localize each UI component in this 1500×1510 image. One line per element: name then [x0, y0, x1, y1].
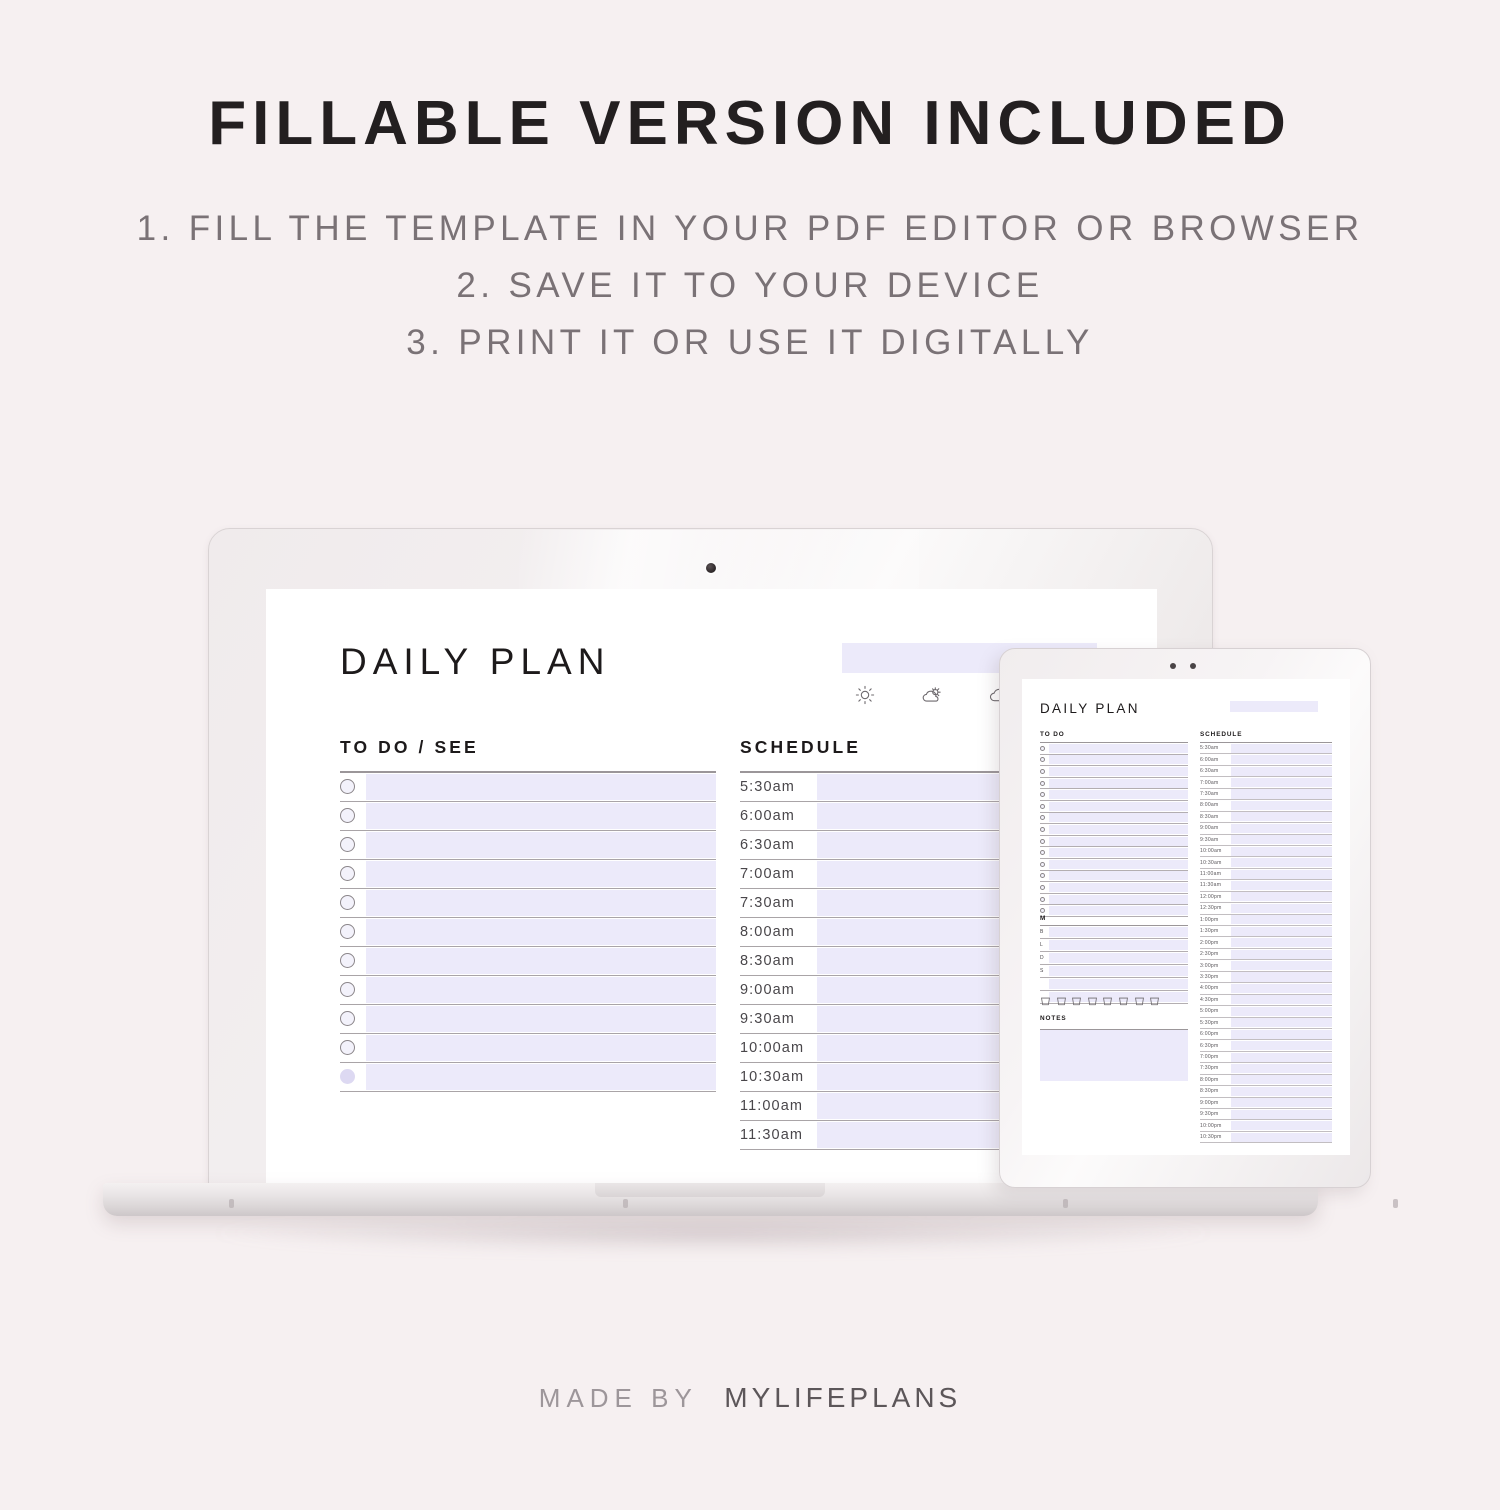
- laptop-camera-icon: [706, 563, 716, 573]
- tablet-schedule-input[interactable]: [1231, 824, 1332, 833]
- schedule-time-label: 7:30am: [740, 895, 817, 911]
- tablet-schedule-time-label: 6:30am: [1200, 768, 1231, 774]
- tablet-schedule-input[interactable]: [1231, 892, 1332, 901]
- todo-checkbox-circle-icon[interactable]: [340, 1011, 355, 1026]
- tablet-schedule-time-label: 6:00am: [1200, 757, 1231, 763]
- tablet-schedule-row: 7:00am: [1200, 777, 1332, 788]
- tablet-schedule-time-label: 4:00pm: [1200, 985, 1231, 991]
- water-glass-icon[interactable]: [1056, 997, 1067, 1006]
- tablet-schedule-row: 9:30am: [1200, 835, 1332, 846]
- tablet-meal-row: B: [1040, 926, 1188, 939]
- tablet-schedule-input[interactable]: [1231, 778, 1332, 787]
- todo-row: [340, 889, 716, 918]
- water-glass-icon[interactable]: [1087, 997, 1098, 1006]
- laptop-foot: [1393, 1199, 1398, 1208]
- laptop-foot: [623, 1199, 628, 1208]
- tablet-schedule-time-label: 9:30pm: [1200, 1111, 1231, 1117]
- tablet-schedule-input[interactable]: [1231, 1110, 1332, 1119]
- tablet-schedule-row: 1:00pm: [1200, 915, 1332, 926]
- tablet-todo-checkbox-circle-icon[interactable]: [1040, 769, 1045, 774]
- instruction-step-3: 3. PRINT IT OR USE IT DIGITALLY: [0, 314, 1500, 371]
- tablet-todo-row: [1040, 801, 1188, 813]
- tablet-schedule-time-label: 7:00pm: [1200, 1054, 1231, 1060]
- tablet-screen: DAILY PLAN TO DO SCHEDULE 5:30am6:00am6:…: [1022, 679, 1350, 1155]
- tablet-meal-label: B: [1040, 929, 1048, 935]
- tablet-notes-heading: NOTES: [1040, 1015, 1188, 1025]
- schedule-time-label: 7:00am: [740, 866, 817, 882]
- todo-row: [340, 860, 716, 889]
- todo-input[interactable]: [366, 861, 716, 887]
- tablet-todo-input[interactable]: [1049, 755, 1188, 764]
- todo-checkbox-circle-icon[interactable]: [340, 866, 355, 881]
- tablet-schedule-row: 5:30pm: [1200, 1018, 1332, 1029]
- tablet-meal-label: S: [1040, 968, 1048, 974]
- tablet-schedule-row: 6:30am: [1200, 766, 1332, 777]
- footer-made-by: MADE BY: [539, 1383, 698, 1413]
- todo-checkbox-circle-icon[interactable]: [340, 982, 355, 997]
- tablet-todo-checkbox-circle-icon[interactable]: [1040, 873, 1045, 878]
- tablet-schedule-input[interactable]: [1231, 744, 1332, 753]
- tablet-schedule-input[interactable]: [1231, 789, 1332, 798]
- tablet-schedule-row: 5:30am: [1200, 743, 1332, 754]
- tablet-schedule-input[interactable]: [1231, 1053, 1332, 1062]
- tablet-schedule-time-label: 11:00am: [1200, 871, 1231, 877]
- tablet-schedule-time-label: 8:00am: [1200, 802, 1231, 808]
- tablet-todo-input[interactable]: [1049, 871, 1188, 880]
- todo-row: [340, 1063, 716, 1092]
- tablet-schedule-input[interactable]: [1231, 1121, 1332, 1130]
- tablet-schedule-input[interactable]: [1231, 858, 1332, 867]
- tablet-schedule-input[interactable]: [1231, 1133, 1332, 1142]
- tablet-meals-section: M BLDS: [1040, 915, 1188, 1004]
- tablet-schedule-input[interactable]: [1231, 1007, 1332, 1016]
- tablet-schedule-row: 8:30pm: [1200, 1086, 1332, 1097]
- tablet-todo-row-list: [1040, 743, 1188, 917]
- tablet-schedule-heading: SCHEDULE: [1200, 731, 1332, 742]
- water-glass-icon[interactable]: [1040, 997, 1051, 1006]
- tablet-schedule-input[interactable]: [1231, 835, 1332, 844]
- tablet-schedule-row: 2:30pm: [1200, 949, 1332, 960]
- tablet-water-tracker: [1040, 997, 1188, 1006]
- tablet-schedule-time-label: 9:00am: [1200, 825, 1231, 831]
- todo-row: [340, 802, 716, 831]
- tablet-schedule-input[interactable]: [1231, 961, 1332, 970]
- tablet-schedule-row: 9:00pm: [1200, 1098, 1332, 1109]
- tablet-schedule-time-label: 10:00am: [1200, 848, 1231, 854]
- tablet-schedule-row: 10:00pm: [1200, 1120, 1332, 1131]
- tablet-schedule-row: 11:30am: [1200, 880, 1332, 891]
- tablet-todo-row: [1040, 894, 1188, 906]
- tablet-schedule-input[interactable]: [1231, 995, 1332, 1004]
- tablet-schedule-input[interactable]: [1231, 801, 1332, 810]
- tablet-meal-row: [1040, 978, 1188, 991]
- tablet-todo-row: [1040, 789, 1188, 801]
- tablet-schedule-row: 4:00pm: [1200, 983, 1332, 994]
- tablet-todo-checkbox-circle-icon[interactable]: [1040, 827, 1045, 832]
- tablet-meal-row: D: [1040, 952, 1188, 965]
- tablet-todo-input[interactable]: [1049, 813, 1188, 822]
- tablet-schedule-input[interactable]: [1231, 812, 1332, 821]
- tablet-todo-row: [1040, 778, 1188, 790]
- footer: MADE BY MYLIFEPLANS: [0, 1382, 1500, 1414]
- tablet-todo-checkbox-circle-icon[interactable]: [1040, 839, 1045, 844]
- schedule-time-label: 10:00am: [740, 1040, 817, 1056]
- laptop-hinge: [595, 1183, 825, 1197]
- tablet-schedule-time-label: 9:30am: [1200, 837, 1231, 843]
- tablet-schedule-row: 6:30pm: [1200, 1040, 1332, 1051]
- tablet-todo-row: [1040, 743, 1188, 755]
- tablet-schedule-time-label: 8:00pm: [1200, 1077, 1231, 1083]
- tablet-schedule-input[interactable]: [1231, 1087, 1332, 1096]
- footer-brand: MYLIFEPLANS: [724, 1382, 961, 1413]
- tablet-schedule-input[interactable]: [1231, 1098, 1332, 1107]
- tablet-meal-row: L: [1040, 939, 1188, 952]
- todo-checkbox-circle-icon[interactable]: [340, 953, 355, 968]
- todo-input[interactable]: [366, 948, 716, 974]
- tablet-camera-dots-icon: [1170, 663, 1196, 669]
- todo-input[interactable]: [366, 774, 716, 800]
- todo-row-list: [340, 773, 716, 1092]
- tablet-todo-input[interactable]: [1049, 744, 1188, 753]
- page-title: FILLABLE VERSION INCLUDED: [0, 88, 1500, 159]
- tablet-meal-input[interactable]: [1049, 979, 1188, 989]
- tablet-todo-row: [1040, 836, 1188, 848]
- tablet-schedule-time-label: 5:30am: [1200, 745, 1231, 751]
- tablet-schedule-row: 8:30am: [1200, 812, 1332, 823]
- schedule-time-label: 6:00am: [740, 808, 817, 824]
- schedule-time-label: 11:00am: [740, 1098, 817, 1114]
- tablet-todo-checkbox-circle-icon[interactable]: [1040, 897, 1045, 902]
- tablet-todo-checkbox-circle-icon[interactable]: [1040, 908, 1045, 913]
- todo-input[interactable]: [366, 919, 716, 945]
- tablet-schedule-row: 6:00am: [1200, 754, 1332, 765]
- tablet-meal-row-list: BLDS: [1040, 926, 1188, 1004]
- tablet-todo-input[interactable]: [1049, 860, 1188, 869]
- tablet-todo-row: [1040, 813, 1188, 825]
- tablet-schedule-input[interactable]: [1231, 1018, 1332, 1027]
- todo-input[interactable]: [366, 977, 716, 1003]
- tablet-schedule-row: 10:30am: [1200, 857, 1332, 868]
- water-glass-icon[interactable]: [1118, 997, 1129, 1006]
- todo-checkbox-circle-icon[interactable]: [340, 1069, 355, 1084]
- sun-icon[interactable]: [854, 684, 876, 706]
- laptop-foot: [229, 1199, 234, 1208]
- tablet-schedule-row: 4:30pm: [1200, 995, 1332, 1006]
- tablet-schedule-time-label: 10:30am: [1200, 860, 1231, 866]
- todo-row: [340, 831, 716, 860]
- todo-input[interactable]: [366, 803, 716, 829]
- tablet-schedule-time-label: 5:30pm: [1200, 1020, 1231, 1026]
- water-glass-icon[interactable]: [1149, 997, 1160, 1006]
- tablet-schedule-input[interactable]: [1231, 938, 1332, 947]
- todo-checkbox-circle-icon[interactable]: [340, 779, 355, 794]
- tablet-schedule-input[interactable]: [1231, 767, 1332, 776]
- tablet-schedule-row: 12:00pm: [1200, 892, 1332, 903]
- tablet-meal-input[interactable]: [1049, 940, 1188, 950]
- tablet-todo-input[interactable]: [1049, 802, 1188, 811]
- schedule-time-label: 9:00am: [740, 982, 817, 998]
- water-glass-icon[interactable]: [1102, 997, 1113, 1006]
- instruction-step-2: 2. SAVE IT TO YOUR DEVICE: [0, 257, 1500, 314]
- schedule-time-label: 6:30am: [740, 837, 817, 853]
- tablet-todo-checkbox-circle-icon[interactable]: [1040, 885, 1045, 890]
- todo-row: [340, 1005, 716, 1034]
- todo-input[interactable]: [366, 1035, 716, 1061]
- tablet-notes-section: NOTES: [1040, 1015, 1188, 1081]
- tablet-schedule-time-label: 1:00pm: [1200, 917, 1231, 923]
- tablet-schedule-row: 7:30pm: [1200, 1063, 1332, 1074]
- laptop-foot: [1063, 1199, 1068, 1208]
- tablet-todo-checkbox-circle-icon[interactable]: [1040, 781, 1045, 786]
- tablet-schedule-time-label: 7:30pm: [1200, 1065, 1231, 1071]
- tablet-meal-input[interactable]: [1049, 927, 1188, 937]
- todo-checkbox-circle-icon[interactable]: [340, 924, 355, 939]
- tablet-schedule-input[interactable]: [1231, 881, 1332, 890]
- tablet-todo-checkbox-circle-icon[interactable]: [1040, 757, 1045, 762]
- tablet-schedule-input[interactable]: [1231, 972, 1332, 981]
- tablet-meal-row: S: [1040, 965, 1188, 978]
- schedule-time-label: 8:30am: [740, 953, 817, 969]
- tablet-schedule-input[interactable]: [1231, 904, 1332, 913]
- tablet-todo-row: [1040, 871, 1188, 883]
- tablet-schedule-time-label: 5:00pm: [1200, 1008, 1231, 1014]
- tablet-schedule-time-label: 3:30pm: [1200, 974, 1231, 980]
- tablet-schedule-input[interactable]: [1231, 984, 1332, 993]
- tablet-mockup: DAILY PLAN TO DO SCHEDULE 5:30am6:00am6:…: [999, 648, 1371, 1188]
- tablet-todo-input[interactable]: [1049, 906, 1188, 915]
- tablet-todo-row: [1040, 766, 1188, 778]
- tablet-schedule-time-label: 8:30pm: [1200, 1088, 1231, 1094]
- tablet-schedule-row: 9:00am: [1200, 823, 1332, 834]
- todo-input[interactable]: [366, 832, 716, 858]
- tablet-schedule-time-label: 7:00am: [1200, 780, 1231, 786]
- tablet-schedule-row: 9:30pm: [1200, 1109, 1332, 1120]
- tablet-schedule-input[interactable]: [1231, 847, 1332, 856]
- tablet-todo-row: [1040, 882, 1188, 894]
- tablet-schedule-input[interactable]: [1231, 1075, 1332, 1084]
- todo-input[interactable]: [366, 1064, 716, 1090]
- schedule-time-label: 10:30am: [740, 1069, 817, 1085]
- tablet-meal-label: L: [1040, 942, 1048, 948]
- tablet-todo-checkbox-circle-icon[interactable]: [1040, 792, 1045, 797]
- todo-checkbox-circle-icon[interactable]: [340, 895, 355, 910]
- tablet-todo-row: [1040, 824, 1188, 836]
- tablet-camera-dot: [1170, 663, 1176, 669]
- todo-row: [340, 1034, 716, 1063]
- tablet-todo-input[interactable]: [1049, 848, 1188, 857]
- tablet-todo-input[interactable]: [1049, 779, 1188, 788]
- tablet-schedule-time-label: 10:00pm: [1200, 1123, 1231, 1129]
- tablet-schedule-time-label: 7:30am: [1200, 791, 1231, 797]
- todo-row: [340, 947, 716, 976]
- tablet-schedule-row: 8:00pm: [1200, 1075, 1332, 1086]
- tablet-todo-checkbox-circle-icon[interactable]: [1040, 804, 1045, 809]
- tablet-schedule-time-label: 9:00pm: [1200, 1100, 1231, 1106]
- tablet-schedule-input[interactable]: [1231, 927, 1332, 936]
- tablet-notes-field[interactable]: [1040, 1029, 1188, 1081]
- tablet-schedule-time-label: 2:30pm: [1200, 951, 1231, 957]
- tablet-schedule-row: 10:00am: [1200, 846, 1332, 857]
- water-glass-icon[interactable]: [1134, 997, 1145, 1006]
- instruction-list: 1. FILL THE TEMPLATE IN YOUR PDF EDITOR …: [0, 200, 1500, 371]
- tablet-todo-input[interactable]: [1049, 837, 1188, 846]
- tablet-todo-checkbox-circle-icon[interactable]: [1040, 862, 1045, 867]
- schedule-time-label: 9:30am: [740, 1011, 817, 1027]
- tablet-schedule-row: 3:00pm: [1200, 960, 1332, 971]
- laptop-drop-shadow: [213, 1213, 1213, 1253]
- tablet-schedule-row: 1:30pm: [1200, 926, 1332, 937]
- tablet-schedule-time-label: 11:30am: [1200, 882, 1231, 888]
- tablet-body: DAILY PLAN TO DO SCHEDULE 5:30am6:00am6:…: [999, 648, 1371, 1188]
- tablet-schedule-row: 11:00am: [1200, 869, 1332, 880]
- poster-canvas: FILLABLE VERSION INCLUDED 1. FILL THE TE…: [0, 0, 1500, 1510]
- tablet-todo-row: [1040, 859, 1188, 871]
- tablet-schedule-row: 5:00pm: [1200, 1006, 1332, 1017]
- tablet-schedule-time-label: 8:30am: [1200, 814, 1231, 820]
- tablet-todo-heading: TO DO: [1040, 731, 1188, 742]
- tablet-todo-input[interactable]: [1049, 883, 1188, 892]
- tablet-schedule-time-label: 6:00pm: [1200, 1031, 1231, 1037]
- tablet-todo-input[interactable]: [1049, 790, 1188, 799]
- todo-input[interactable]: [366, 1006, 716, 1032]
- todo-checkbox-circle-icon[interactable]: [340, 808, 355, 823]
- tablet-date-field[interactable]: [1230, 701, 1318, 712]
- sun-behind-cloud-icon[interactable]: [920, 684, 944, 706]
- schedule-time-label: 8:00am: [740, 924, 817, 940]
- tablet-todo-row: [1040, 755, 1188, 767]
- laptop-base: [103, 1183, 1318, 1243]
- tablet-schedule-row: 12:30pm: [1200, 903, 1332, 914]
- tablet-schedule-input[interactable]: [1231, 1030, 1332, 1039]
- tablet-schedule-time-label: 2:00pm: [1200, 940, 1231, 946]
- tablet-planner-page: DAILY PLAN TO DO SCHEDULE 5:30am6:00am6:…: [1022, 679, 1350, 1155]
- tablet-schedule-row: 2:00pm: [1200, 937, 1332, 948]
- tablet-todo-checkbox-circle-icon[interactable]: [1040, 850, 1045, 855]
- tablet-schedule-row-list: 5:30am6:00am6:30am7:00am7:30am8:00am8:30…: [1200, 743, 1332, 1143]
- todo-checkbox-circle-icon[interactable]: [340, 837, 355, 852]
- tablet-schedule-row: 3:30pm: [1200, 972, 1332, 983]
- tablet-schedule-row: 7:30am: [1200, 789, 1332, 800]
- todo-heading: TO DO / SEE: [340, 737, 716, 771]
- tablet-meal-input[interactable]: [1049, 966, 1188, 976]
- todo-checkbox-circle-icon[interactable]: [340, 1040, 355, 1055]
- tablet-schedule-input[interactable]: [1231, 950, 1332, 959]
- tablet-todo-input[interactable]: [1049, 825, 1188, 834]
- tablet-meal-input[interactable]: [1049, 953, 1188, 963]
- tablet-schedule-input[interactable]: [1231, 915, 1332, 924]
- tablet-schedule-input[interactable]: [1231, 870, 1332, 879]
- tablet-schedule-time-label: 3:00pm: [1200, 963, 1231, 969]
- tablet-sensor-dot: [1190, 663, 1196, 669]
- tablet-schedule-row: 7:00pm: [1200, 1052, 1332, 1063]
- tablet-todo-checkbox-circle-icon[interactable]: [1040, 815, 1045, 820]
- schedule-time-label: 5:30am: [740, 779, 817, 795]
- tablet-todo-checkbox-circle-icon[interactable]: [1040, 746, 1045, 751]
- tablet-schedule-row: 6:00pm: [1200, 1029, 1332, 1040]
- tablet-schedule-row: 10:30pm: [1200, 1132, 1332, 1143]
- tablet-schedule-time-label: 12:00pm: [1200, 894, 1231, 900]
- instruction-step-1: 1. FILL THE TEMPLATE IN YOUR PDF EDITOR …: [0, 200, 1500, 257]
- tablet-schedule-input[interactable]: [1231, 1064, 1332, 1073]
- tablet-schedule-input[interactable]: [1231, 1041, 1332, 1050]
- tablet-todo-input[interactable]: [1049, 895, 1188, 904]
- todo-row: [340, 918, 716, 947]
- water-glass-icon[interactable]: [1071, 997, 1082, 1006]
- todo-row: [340, 773, 716, 802]
- tablet-meals-heading: M: [1040, 915, 1188, 925]
- tablet-schedule-time-label: 10:30pm: [1200, 1134, 1231, 1140]
- tablet-schedule-time-label: 6:30pm: [1200, 1043, 1231, 1049]
- tablet-schedule-section: SCHEDULE 5:30am6:00am6:30am7:00am7:30am8…: [1200, 731, 1332, 1143]
- tablet-schedule-input[interactable]: [1231, 755, 1332, 764]
- tablet-meal-label: D: [1040, 955, 1048, 961]
- tablet-todo-input[interactable]: [1049, 767, 1188, 776]
- tablet-schedule-time-label: 4:30pm: [1200, 997, 1231, 1003]
- todo-section: TO DO / SEE: [340, 737, 716, 1150]
- todo-input[interactable]: [366, 890, 716, 916]
- todo-row: [340, 976, 716, 1005]
- tablet-todo-row: [1040, 847, 1188, 859]
- schedule-time-label: 11:30am: [740, 1127, 817, 1143]
- tablet-schedule-time-label: 1:30pm: [1200, 928, 1231, 934]
- tablet-schedule-row: 8:00am: [1200, 800, 1332, 811]
- tablet-schedule-time-label: 12:30pm: [1200, 905, 1231, 911]
